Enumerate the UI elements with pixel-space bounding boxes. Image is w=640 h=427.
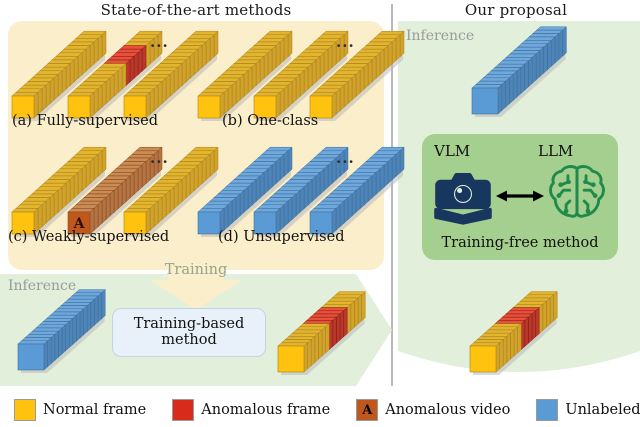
legend-item-1: Anomalous frame	[172, 399, 330, 421]
left-column-title: State-of-the-art methods	[0, 1, 392, 19]
vlm-label: VLM	[434, 142, 470, 160]
legend-label-anomalous-video: Anomalous video	[385, 402, 510, 418]
proposal-output-stack	[468, 296, 572, 378]
group-c-ellipsis: ...	[150, 149, 169, 167]
legend: Normal frame Anomalous frame A Anomalous…	[0, 396, 640, 424]
proposal-input-stack	[470, 36, 580, 122]
legend-item-2: A Anomalous video	[356, 399, 510, 421]
double-headed-arrow-icon	[496, 188, 544, 204]
legend-swatch-normal-frame	[14, 399, 36, 421]
training-based-method-label: Training-based method	[113, 317, 265, 348]
camera-book-icon	[432, 162, 494, 224]
group-d-caption: (d) Unsupervised	[218, 229, 344, 245]
training-output-stack	[276, 296, 380, 378]
legend-label-normal-frame: Normal frame	[43, 402, 146, 418]
legend-item-0: Normal frame	[14, 399, 146, 421]
group-a-caption: (a) Fully-supervised	[12, 113, 158, 129]
figure-root: State-of-the-art methods Our proposal Tr…	[0, 0, 640, 427]
group-d-ellipsis: ...	[336, 149, 355, 167]
brain-circuit-icon	[548, 162, 606, 222]
legend-swatch-anomalous-video: A	[356, 399, 378, 421]
proposal-inference-label: Inference	[406, 28, 474, 44]
group-a-ellipsis: ...	[150, 33, 169, 51]
right-column-title: Our proposal	[392, 1, 640, 19]
training-based-method-box: Training-based method	[112, 308, 266, 357]
group-b-caption: (b) One-class	[222, 113, 318, 129]
legend-swatch-unlabeled-video	[536, 399, 558, 421]
legend-item-3: Unlabeled video	[536, 399, 640, 421]
training-free-method-label: Training-free method	[422, 235, 618, 251]
legend-label-unlabeled-video: Unlabeled video	[565, 402, 640, 418]
group-c-caption: (c) Weakly-supervised	[8, 229, 169, 245]
training-arrow-label: Training	[148, 262, 244, 278]
legend-swatch-anomalous-frame	[172, 399, 194, 421]
group-b-ellipsis: ...	[336, 33, 355, 51]
training-input-stack	[16, 296, 116, 376]
llm-label: LLM	[538, 142, 573, 160]
training-inference-label: Inference	[8, 278, 76, 294]
legend-label-anomalous-frame: Anomalous frame	[201, 402, 330, 418]
